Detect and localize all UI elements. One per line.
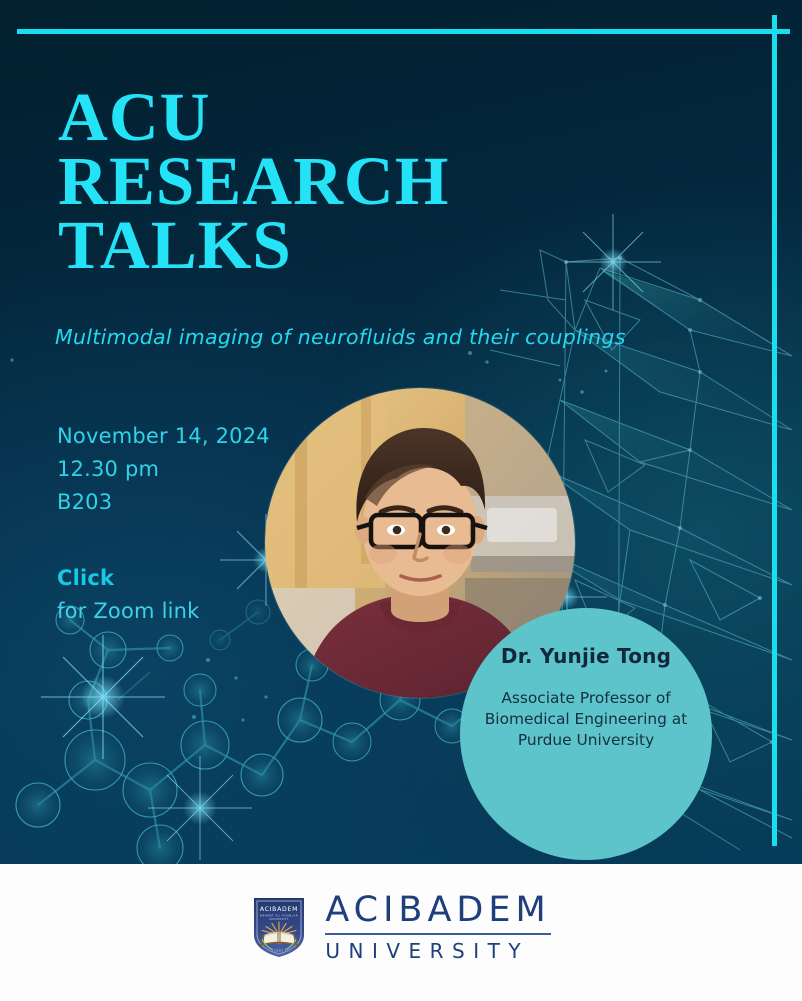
wordmark-university: UNIVERSITY [325, 939, 550, 963]
right-accent-rule [772, 15, 777, 846]
speaker-info-bubble: Dr. Yunjie Tong Associate Professor of B… [460, 608, 712, 860]
svg-text:ACIBADEM: ACIBADEM [260, 906, 298, 913]
zoom-link-caption: for Zoom link [57, 595, 307, 628]
acibadem-crest-icon: ACIBADEM MEHMET ALI AYDINLAR UNIVERSITY … [251, 895, 307, 959]
headline-line-1: ACU [58, 85, 678, 149]
talk-subtitle: Multimodal imaging of neurofluids and th… [55, 325, 755, 349]
svg-text:UNIVERSITY: UNIVERSITY [270, 917, 290, 921]
event-room: B203 [57, 486, 287, 519]
acibadem-wordmark: ACIBADEM UNIVERSITY [325, 890, 550, 963]
poster-root: ACU RESEARCH TALKS Multimodal imaging of… [0, 0, 802, 1001]
speaker-title: Associate Professor of Biomedical Engine… [484, 688, 689, 751]
headline-line-3: TALKS [58, 213, 678, 277]
event-date: November 14, 2024 [57, 420, 287, 453]
page-title: ACU RESEARCH TALKS [58, 85, 678, 277]
event-details: November 14, 2024 12.30 pm B203 [57, 420, 287, 519]
university-logo: ACIBADEM MEHMET ALI AYDINLAR UNIVERSITY … [251, 890, 550, 963]
top-accent-rule [17, 29, 790, 34]
headline-line-2: RESEARCH [58, 149, 678, 213]
wordmark-divider [325, 933, 550, 935]
event-time: 12.30 pm [57, 453, 287, 486]
poster-canvas: ACU RESEARCH TALKS Multimodal imaging of… [0, 0, 802, 864]
wordmark-acibadem: ACIBADEM [325, 890, 550, 930]
footer-bar: ACIBADEM MEHMET ALI AYDINLAR UNIVERSITY … [0, 864, 802, 1001]
svg-text:2007: 2007 [275, 948, 285, 952]
speaker-name: Dr. Yunjie Tong [501, 644, 671, 668]
